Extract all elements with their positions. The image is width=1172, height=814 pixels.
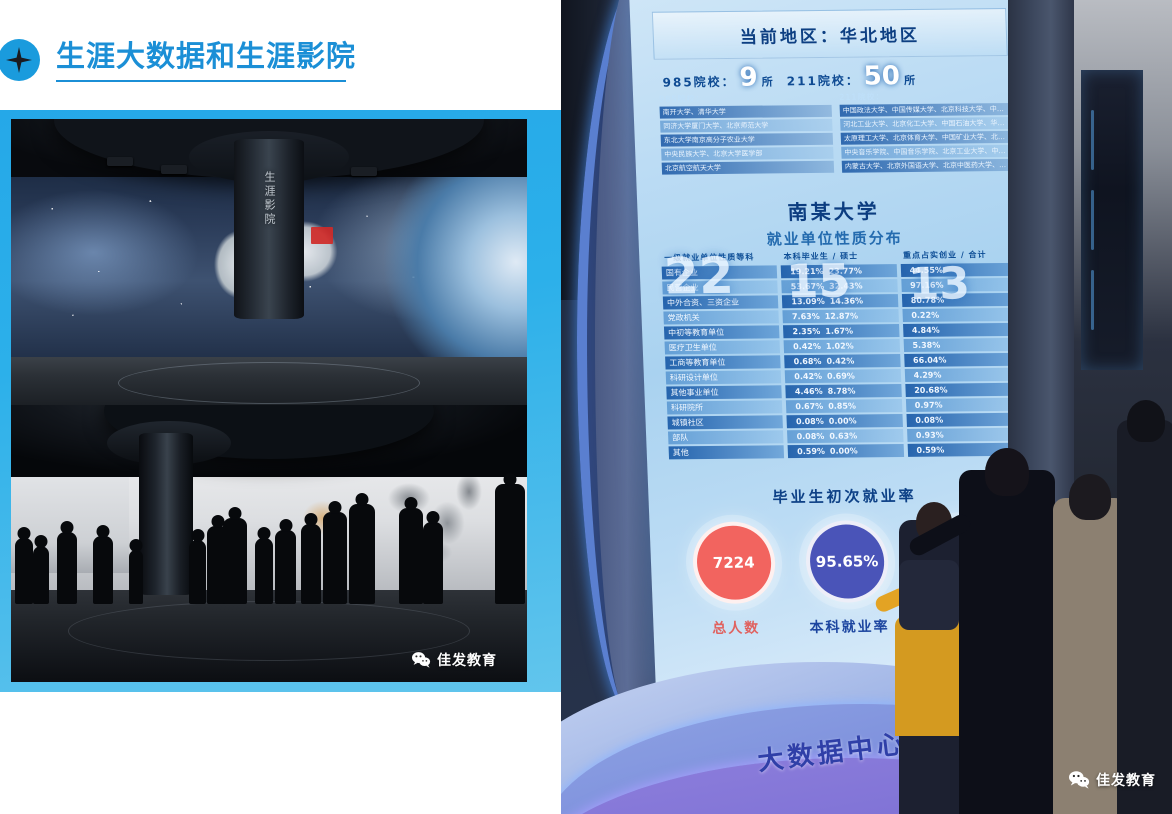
list-item: 北京航空航天大学 <box>662 161 835 175</box>
school-lists: 985院校： 南开大学、清华大学 同济大学厦门大学、北京师范大学 东北大学南京高… <box>659 90 1015 190</box>
rate-label: 本科就业率 <box>794 616 905 637</box>
theater-column-caption: 生涯影院 <box>262 171 276 227</box>
watermark-label: 佳发教育 <box>1096 770 1156 790</box>
rate-item-total: 7224 总人数 <box>677 521 791 638</box>
list-item: 同济大学厦门大学、北京师范大学 <box>660 119 833 133</box>
list-item: 内蒙古大学、北京外国语大学、北京中医药大学、对外经济贸易大学 <box>842 159 1015 173</box>
table-row: 城镇社区 0.08%0.00% 0.08% <box>667 413 1022 430</box>
list-item: 中央民族大学、北京大学医学部 <box>661 147 834 161</box>
table-row: 中外合资、三资企业 13.09%14.36% 80.78% <box>663 293 1018 310</box>
watermark-label: 佳发教育 <box>437 650 497 670</box>
university-name: 南某大学 <box>637 194 1030 227</box>
wechat-icon <box>411 651 431 669</box>
table-row: 医疗卫生单位 0.42%1.02% 5.38% <box>665 338 1020 355</box>
list-item: 中央音乐学院、中国音乐学院、北京工业大学、中央财经大学 <box>841 145 1014 159</box>
theater-space-photo: 生涯影院 <box>11 119 527 405</box>
rate-bubble: 95.65% <box>804 520 889 603</box>
left-photo-stack: 生涯影院 <box>11 119 527 682</box>
visitor-beige-coat <box>1053 498 1127 814</box>
table-row: 中初等教育单位 2.35%1.67% 4.84% <box>664 323 1019 340</box>
right-photo-bigdata-center: 当前地区：华北地区 985院校： 9 所 211院校： 50 所 985院校： … <box>561 0 1172 814</box>
count-985: 985院校： 9 所 <box>662 62 773 93</box>
page-header: 生涯大数据和生涯影院 <box>0 34 520 86</box>
table-row: 部队 0.08%0.63% 0.93% <box>668 428 1023 445</box>
table-row: 国有企业 19.21%23.77% 44.55% <box>662 263 1017 280</box>
watermark-right-photo: 佳发教育 <box>1068 770 1156 790</box>
list-211: 211院校： 中国政法大学、中国传媒大学、北京科技大学、中国石油大学 河北工业大… <box>839 90 1015 188</box>
rate-item-undergrad: 95.65% 本科就业率 <box>790 520 904 637</box>
chart-title: 就业单位性质分布 <box>638 226 1031 251</box>
count-211: 211院校： 50 所 <box>786 61 915 92</box>
watermark-bottom-left-photo: 佳发教育 <box>411 650 497 670</box>
list-item: 南开大学、清华大学 <box>660 105 833 119</box>
screenshot-root: 生涯大数据和生涯影院 生涯影院 <box>0 0 1172 814</box>
list-item: 中国政法大学、中国传媒大学、北京科技大学、中国石油大学 <box>840 103 1013 117</box>
column-header: 一级就业单位性质等科 <box>661 250 777 264</box>
title-underline <box>56 80 346 82</box>
column-header: 本科毕业生 / 硕士 <box>780 249 896 263</box>
list-985: 985院校： 南开大学、清华大学 同济大学厦门大学、北京师范大学 东北大学南京高… <box>659 92 835 190</box>
list-item: 东北大学南京高分子农业大学 <box>661 133 834 147</box>
table-row: 科研设计单位 0.42%0.69% 4.29% <box>666 368 1021 385</box>
table-header-row: 一级就业单位性质等科 本科毕业生 / 硕士 重点占实创业 / 合计 <box>661 248 1016 265</box>
university-heading: 南某大学 就业单位性质分布 <box>637 194 1031 251</box>
wechat-icon <box>1068 770 1090 790</box>
list-item: 河北工业大学、北京化工大学、中国石油大学、华北电力大学 <box>840 117 1013 131</box>
table-row: 其他 0.59%0.00% 0.59% <box>669 443 1024 460</box>
visitor-dark-jacket <box>959 470 1055 814</box>
page-title-wrap: 生涯大数据和生涯影院 <box>56 39 356 82</box>
sparkle-icon <box>0 39 40 81</box>
flag-patch <box>311 227 333 244</box>
employment-distribution-table: 一级就业单位性质等科 本科毕业生 / 硕士 重点占实创业 / 合计 国有企业 1… <box>661 248 1023 462</box>
table-row: 党政机关 7.63%12.87% 0.22% <box>663 308 1018 325</box>
page-title: 生涯大数据和生涯影院 <box>56 39 356 73</box>
column-header: 重点占实创业 / 合计 <box>900 248 1016 262</box>
table-row: 其他事业单位 4.46%8.78% 20.68% <box>666 383 1021 400</box>
rate-label: 总人数 <box>681 617 792 638</box>
table-row: 民营企业 53.67%32.43% 97.16% <box>662 278 1017 295</box>
theater-audience-photo: 佳发教育 <box>11 405 527 682</box>
background-glass-wall <box>1081 70 1143 370</box>
list-item: 太原理工大学、北京体育大学、中国矿业大学、北京交通大学 <box>841 131 1014 145</box>
region-header-text: 当前地区：华北地区 <box>739 20 920 47</box>
table-row: 工商等教育单位 0.68%0.42% 66.04% <box>665 353 1020 370</box>
region-header: 当前地区：华北地区 <box>652 8 1008 60</box>
visitor-far-right <box>1117 420 1172 814</box>
rate-bubble: 7224 <box>691 521 776 604</box>
table-row: 科研院所 0.67%0.85% 0.97% <box>667 398 1022 415</box>
